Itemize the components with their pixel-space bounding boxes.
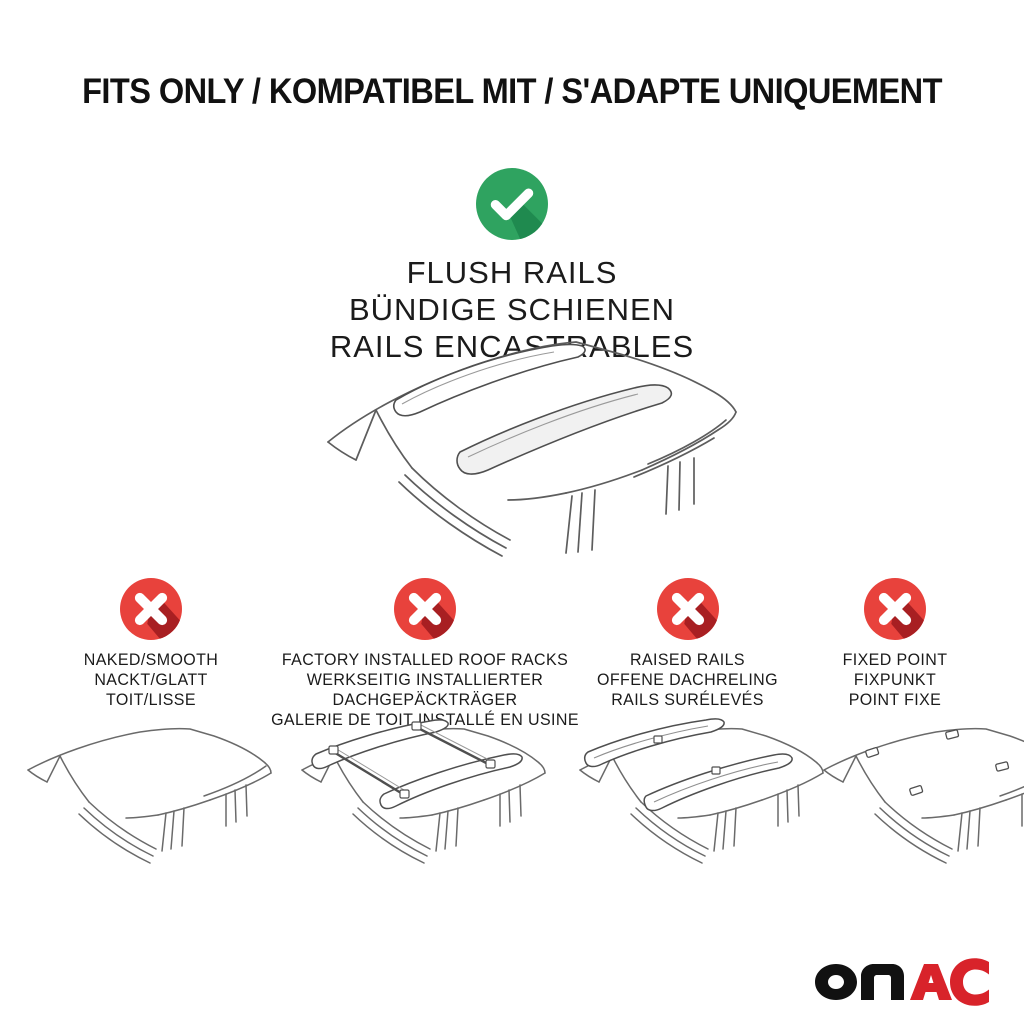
red-x-icon: [657, 578, 719, 640]
car-roof-raised-rails-illustration: [566, 718, 826, 913]
car-roof-factory-rack-illustration: [288, 718, 548, 913]
omac-logo-accent-part: [910, 958, 989, 1006]
option-label-line-3: DACHGEPÄCKTRÄGER: [270, 690, 580, 710]
option-label-line-2: WERKSEITIG INSTALLIERTER: [270, 670, 580, 690]
red-x-icon: [120, 578, 182, 640]
option-fixed-point: FIXED POINT FIXPUNKT POINT FIXE: [800, 578, 990, 710]
option-label-line-1: FIXED POINT: [803, 650, 987, 670]
option-label-group: NAKED/SMOOTH NACKT/GLATT TOIT/LISSE: [40, 650, 262, 710]
car-roof-fixed-point-illustration: [810, 718, 1024, 913]
option-label-group: RAISED RAILS OFFENE DACHRELING RAILS SUR…: [580, 650, 795, 710]
omac-logo: [814, 954, 1000, 1010]
option-label-line-2: OFFENE DACHRELING: [583, 670, 792, 690]
page-title: FITS ONLY / KOMPATIBEL MIT / S'ADAPTE UN…: [36, 72, 988, 112]
incompatible-options: NAKED/SMOOTH NACKT/GLATT TOIT/LISSE FACT…: [0, 578, 1024, 718]
option-label-line-2: FIXPUNKT: [803, 670, 987, 690]
option-label-line-1: NAKED/SMOOTH: [43, 650, 258, 670]
compatible-label-line-1: FLUSH RAILS: [0, 254, 1024, 291]
option-label-line-3: RAILS SURÉLEVÉS: [583, 690, 792, 710]
option-label-group: FIXED POINT FIXPUNKT POINT FIXE: [800, 650, 990, 710]
incompatible-illustrations: [0, 718, 1024, 918]
option-label-line-2: NACKT/GLATT: [43, 670, 258, 690]
red-x-icon: [864, 578, 926, 640]
option-naked-smooth: NAKED/SMOOTH NACKT/GLATT TOIT/LISSE: [40, 578, 262, 710]
car-roof-naked-illustration: [14, 718, 274, 913]
compatible-label-line-2: BÜNDIGE SCHIENEN: [0, 291, 1024, 328]
omac-logo-dark-part: [815, 964, 904, 1000]
compatible-section: FLUSH RAILS BÜNDIGE SCHIENEN RAILS ENCAS…: [0, 168, 1024, 366]
option-label-line-1: FACTORY INSTALLED ROOF RACKS: [270, 650, 580, 670]
green-check-icon: [476, 168, 548, 240]
car-roof-flush-rails-illustration: [290, 338, 740, 568]
red-x-icon: [394, 578, 456, 640]
option-label-line-3: POINT FIXE: [803, 690, 987, 710]
option-factory-installed-roof-racks: FACTORY INSTALLED ROOF RACKS WERKSEITIG …: [265, 578, 585, 731]
option-label-line-1: RAISED RAILS: [583, 650, 792, 670]
option-raised-rails: RAISED RAILS OFFENE DACHRELING RAILS SUR…: [580, 578, 795, 710]
option-label-line-3: TOIT/LISSE: [43, 690, 258, 710]
